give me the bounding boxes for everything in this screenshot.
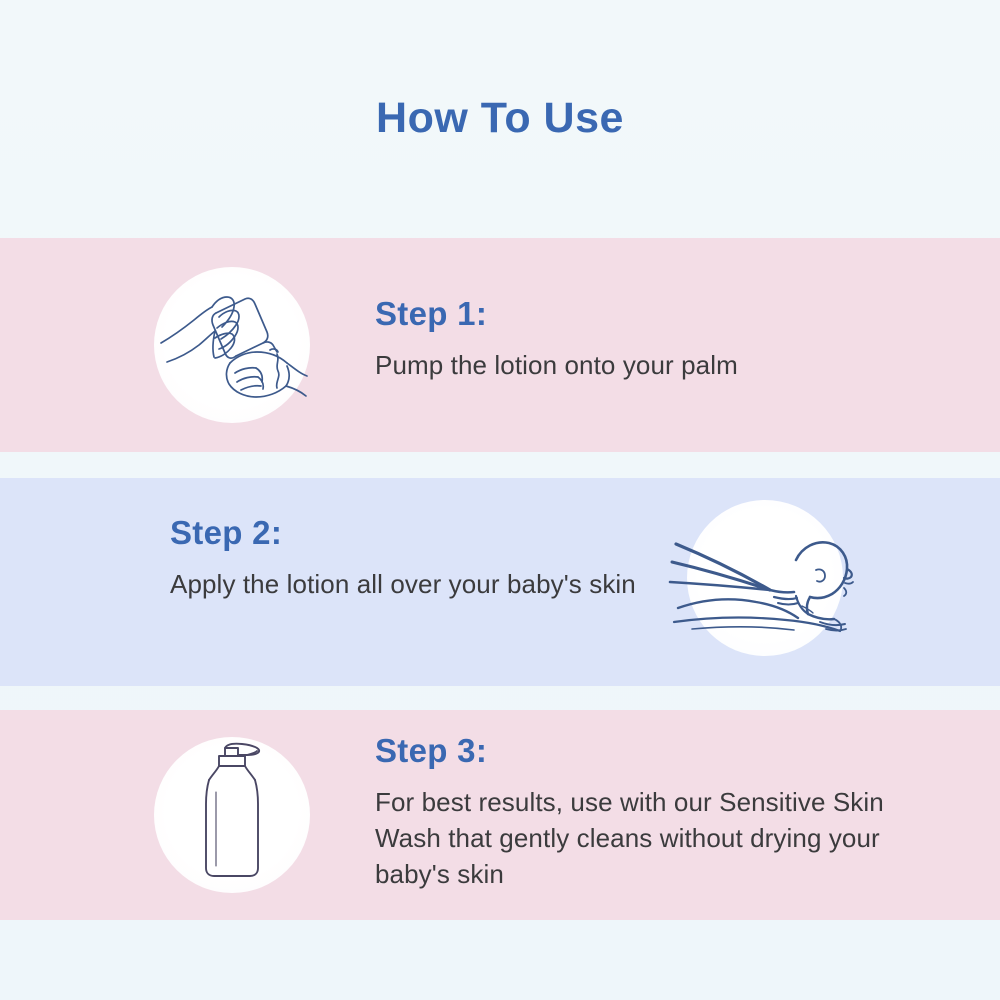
step-3-body: For best results, use with our Sensitive…	[375, 785, 945, 893]
step-1-body: Pump the lotion onto your palm	[375, 348, 905, 384]
step-2-label: Step 2:	[170, 515, 640, 551]
step-1-icon-medallion	[154, 267, 310, 423]
step-3-label: Step 3:	[375, 733, 945, 769]
step-2-text-block: Step 2: Apply the lotion all over your b…	[170, 515, 640, 603]
pump-bottle-icon	[167, 740, 297, 890]
page-title: How To Use	[0, 95, 1000, 142]
hand-pumping-lotion-bottle-icon	[157, 270, 307, 420]
how-to-use-infographic: How To Use	[0, 0, 1000, 1000]
step-3-text-block: Step 3: For best results, use with our S…	[375, 733, 945, 893]
step-2-body: Apply the lotion all over your baby's sk…	[170, 567, 640, 603]
step-1-text-block: Step 1: Pump the lotion onto your palm	[375, 296, 905, 384]
step-3-icon-medallion	[154, 737, 310, 893]
step-2-icon-medallion	[687, 500, 843, 656]
step-1-label: Step 1:	[375, 296, 905, 332]
hands-massaging-baby-icon	[670, 498, 860, 658]
